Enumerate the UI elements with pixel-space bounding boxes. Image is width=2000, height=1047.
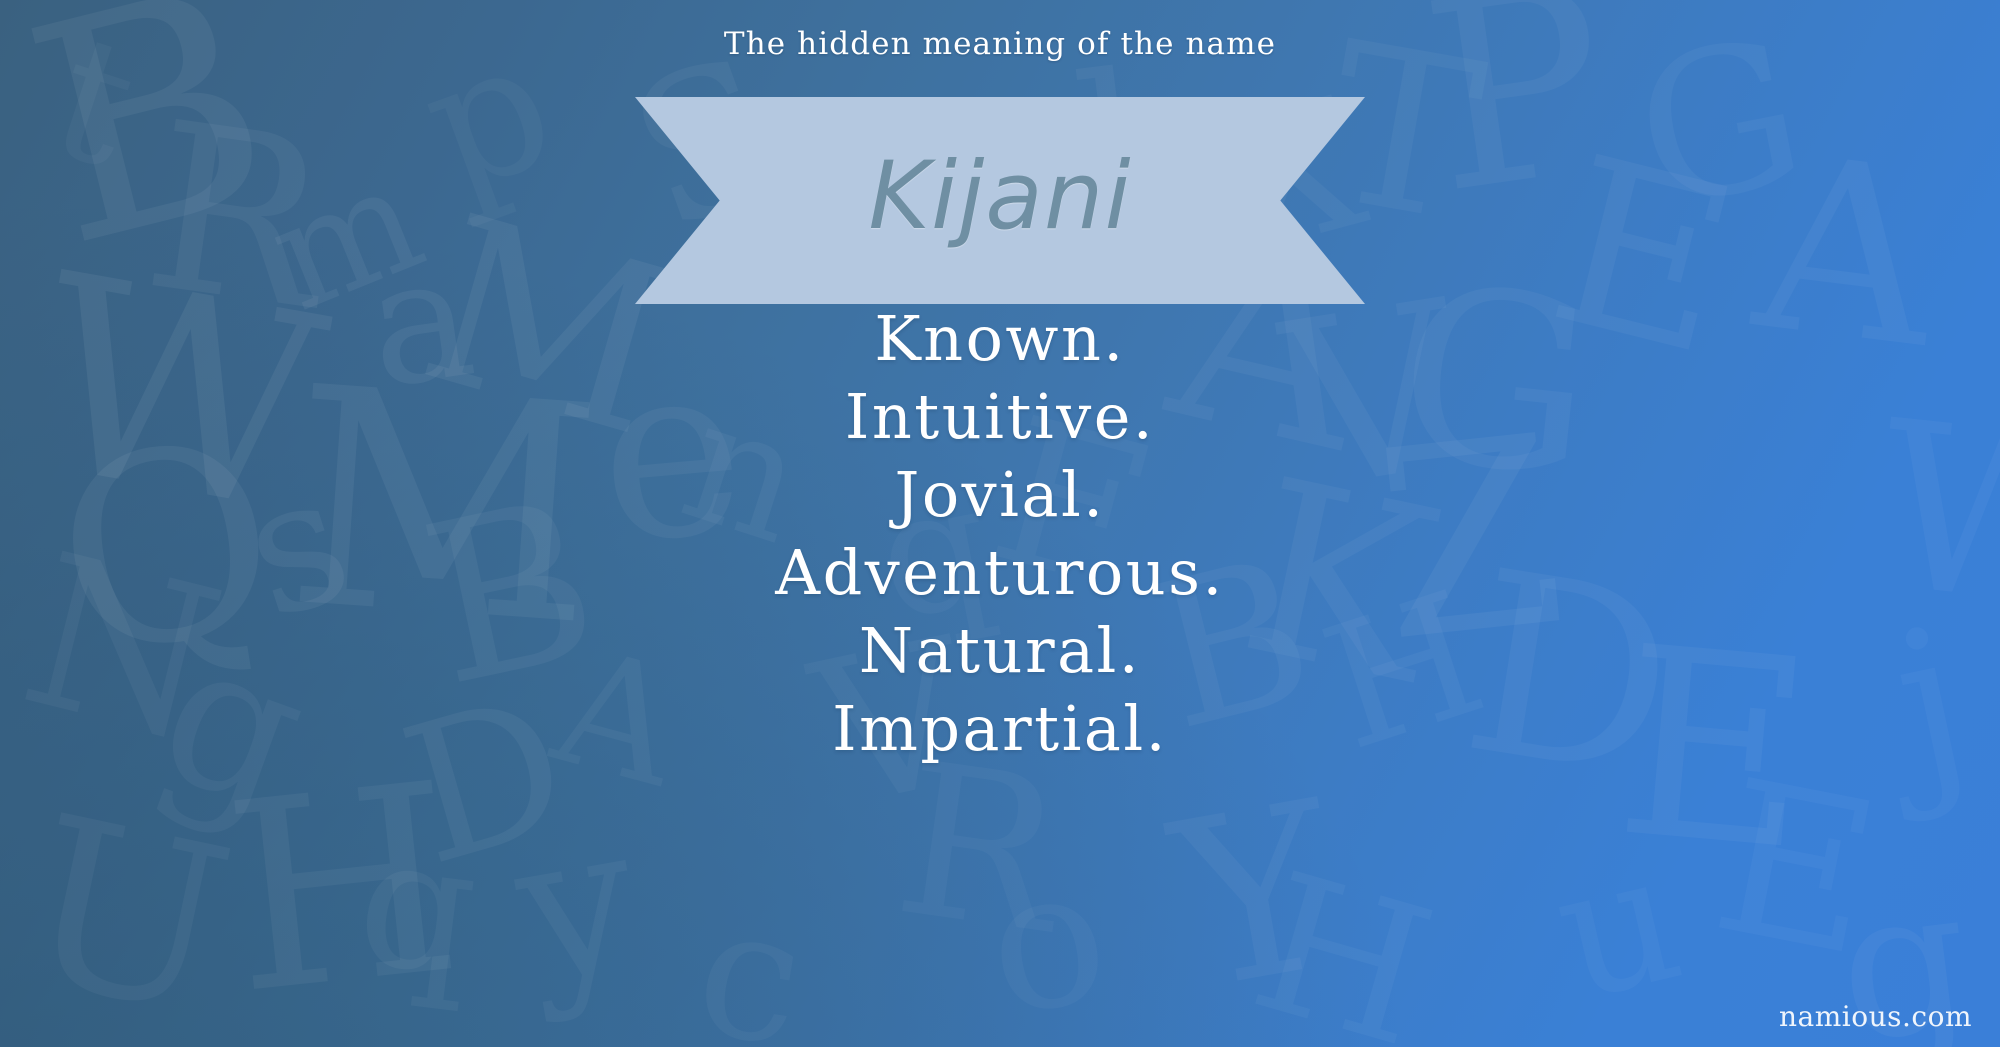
- trait-line: Natural.: [0, 612, 2000, 690]
- name-text: Kijani: [635, 97, 1365, 304]
- page-title: The hidden meaning of the name: [0, 26, 2000, 62]
- watermark-letter: c: [689, 893, 813, 1047]
- watermark-letter: q: [351, 824, 484, 990]
- watermark-letter: R: [137, 109, 336, 327]
- site-watermark: namious.com: [1779, 1000, 1972, 1033]
- trait-line: Known.: [0, 300, 2000, 378]
- watermark-letter: H: [1241, 860, 1445, 1047]
- watermark-letter: H: [219, 769, 468, 1012]
- trait-line: Adventurous.: [0, 534, 2000, 612]
- trait-line: Jovial.: [0, 456, 2000, 534]
- trait-line: Intuitive.: [0, 378, 2000, 456]
- watermark-letter: o: [978, 852, 1116, 1029]
- watermark-letter: u: [1544, 839, 1691, 1014]
- watermark-letter: m: [256, 153, 436, 325]
- watermark-letter: R: [888, 750, 1069, 949]
- name-meaning-card: BRmWaMQNsMBgHUDqyAenVcSbkAVGXTPEGAZKBDHE…: [0, 0, 2000, 1047]
- watermark-letter: Y: [1164, 788, 1347, 1007]
- watermark-letter: U: [12, 802, 242, 1034]
- trait-list: Known.Intuitive.Jovial.Adventurous.Natur…: [0, 300, 2000, 768]
- watermark-letter: y: [506, 811, 647, 998]
- watermark-letter: E: [1704, 767, 1889, 971]
- name-ribbon: Kijani: [635, 97, 1365, 304]
- trait-line: Impartial.: [0, 690, 2000, 768]
